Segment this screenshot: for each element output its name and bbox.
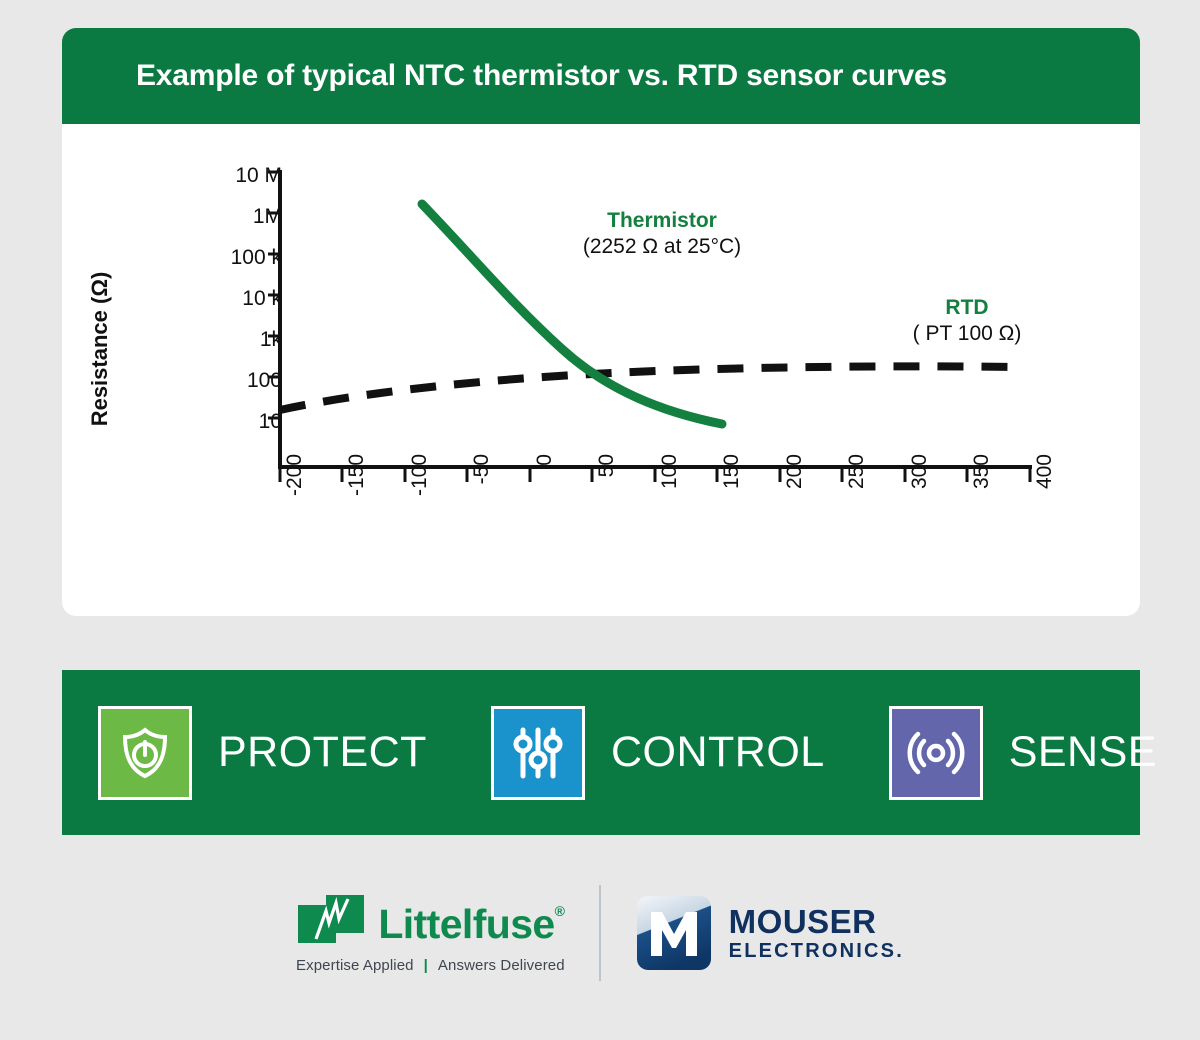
mouser-name: MOUSER	[729, 905, 904, 938]
footer-logos: Littelfuse® Expertise Applied | Answers …	[0, 868, 1200, 998]
littelfuse-wordmark: Littelfuse®	[378, 904, 564, 945]
rtd-label: RTD	[862, 295, 1072, 321]
rtd-annotation: RTD ( PT 100 Ω)	[862, 295, 1072, 346]
infographic-root: Example of typical NTC thermistor vs. RT…	[0, 0, 1200, 1040]
chart-card: Example of typical NTC thermistor vs. RT…	[62, 28, 1140, 616]
tagline-separator: |	[424, 957, 428, 974]
littelfuse-mark-icon	[296, 893, 366, 945]
thermistor-label: Thermistor	[542, 208, 782, 234]
registered-trademark-icon: ®	[555, 903, 565, 919]
footer-divider	[599, 885, 601, 981]
littelfuse-logo-top: Littelfuse®	[296, 893, 564, 945]
x-tick-marks	[280, 467, 1030, 482]
page-title: Example of typical NTC thermistor vs. RT…	[62, 59, 947, 93]
protect-control-sense-banner: PROTECT CONTROL	[62, 670, 1140, 835]
littelfuse-tagline: Expertise Applied | Answers Delivered	[296, 957, 565, 974]
banner-item-control[interactable]: CONTROL	[491, 706, 867, 800]
thermistor-sublabel: (2252 Ω at 25°C)	[542, 234, 782, 260]
chart-plot-area: Resistance (Ω) Temperature (°C) 10 M 1M …	[62, 124, 1140, 616]
chart-svg	[62, 124, 1140, 616]
mouser-mark-icon	[635, 894, 713, 972]
banner-label-control: CONTROL	[611, 728, 825, 777]
tagline-right: Answers Delivered	[438, 957, 565, 974]
rtd-sublabel: ( PT 100 Ω)	[862, 321, 1072, 347]
banner-label-sense: SENSE	[1009, 728, 1157, 777]
tagline-left: Expertise Applied	[296, 957, 414, 974]
card-header: Example of typical NTC thermistor vs. RT…	[62, 28, 1140, 124]
thermistor-annotation: Thermistor (2252 Ω at 25°C)	[542, 208, 782, 259]
banner-item-sense[interactable]: SENSE	[889, 706, 1199, 800]
littelfuse-name: Littelfuse	[378, 901, 554, 947]
mouser-subname: ELECTRONICS.	[729, 941, 904, 961]
mouser-logo[interactable]: MOUSER ELECTRONICS.	[635, 894, 904, 972]
shield-power-icon	[98, 706, 192, 800]
mouser-wordmark: MOUSER ELECTRONICS.	[729, 905, 904, 961]
banner-item-protect[interactable]: PROTECT	[98, 706, 469, 800]
banner-label-protect: PROTECT	[218, 728, 427, 777]
littelfuse-logo[interactable]: Littelfuse® Expertise Applied | Answers …	[296, 893, 565, 974]
sliders-icon	[491, 706, 585, 800]
signal-waves-icon	[889, 706, 983, 800]
